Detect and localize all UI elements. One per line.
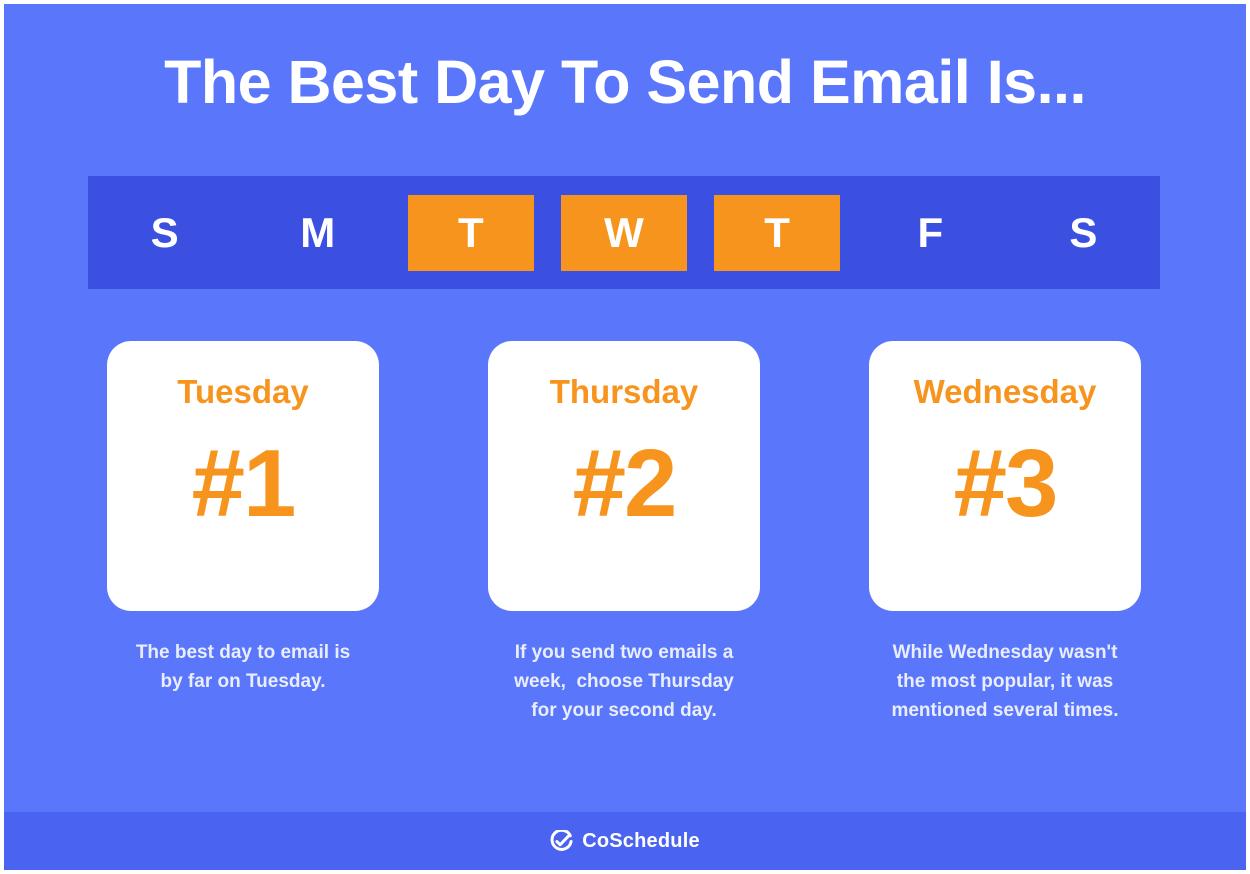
infographic-canvas: The Best Day To Send Email Is... S M T W…: [4, 4, 1246, 870]
card-rank-label: #2: [573, 436, 676, 532]
weekday-strip: S M T W T F S: [88, 176, 1160, 289]
ranking-column-3: Wednesday #3 While Wednesday wasn't the …: [850, 341, 1160, 726]
card-day-label: Tuesday: [177, 375, 308, 408]
day-cell-saturday[interactable]: S: [1007, 176, 1160, 289]
day-cell-wednesday[interactable]: W: [547, 176, 700, 289]
ranking-card[interactable]: Tuesday #1: [107, 341, 379, 611]
day-cell-tuesday[interactable]: T: [394, 176, 547, 289]
day-letter: W: [604, 212, 644, 254]
day-letter: F: [917, 212, 943, 254]
card-rank-label: #3: [954, 436, 1057, 532]
day-cell-friday[interactable]: F: [854, 176, 1007, 289]
ranking-column-1: Tuesday #1 The best day to email is by f…: [88, 341, 398, 726]
card-caption: While Wednesday wasn't the most popular,…: [860, 639, 1150, 726]
card-day-label: Thursday: [550, 375, 699, 408]
ranking-cards: Tuesday #1 The best day to email is by f…: [88, 341, 1160, 726]
day-cell-thursday[interactable]: T: [701, 176, 854, 289]
ranking-column-2: Thursday #2 If you send two emails a wee…: [469, 341, 779, 726]
card-rank-label: #1: [192, 436, 295, 532]
day-letter: T: [458, 212, 484, 254]
card-caption: If you send two emails a week, choose Th…: [479, 639, 769, 726]
day-letter: S: [151, 212, 179, 254]
footer-bar: CoSchedule: [4, 812, 1246, 870]
day-letter: M: [300, 212, 335, 254]
day-cell-sunday[interactable]: S: [88, 176, 241, 289]
card-day-label: Wednesday: [914, 375, 1097, 408]
day-cell-monday[interactable]: M: [241, 176, 394, 289]
infographic-root: The Best Day To Send Email Is... S M T W…: [0, 0, 1250, 874]
ranking-card[interactable]: Wednesday #3: [869, 341, 1141, 611]
card-caption: The best day to email is by far on Tuesd…: [98, 639, 388, 697]
ranking-card[interactable]: Thursday #2: [488, 341, 760, 611]
day-letter: T: [764, 212, 790, 254]
coschedule-check-circle-icon: [550, 830, 573, 853]
page-title: The Best Day To Send Email Is...: [4, 50, 1246, 114]
coschedule-logo[interactable]: CoSchedule: [550, 830, 700, 853]
brand-name: CoSchedule: [582, 831, 700, 851]
day-letter: S: [1069, 212, 1097, 254]
